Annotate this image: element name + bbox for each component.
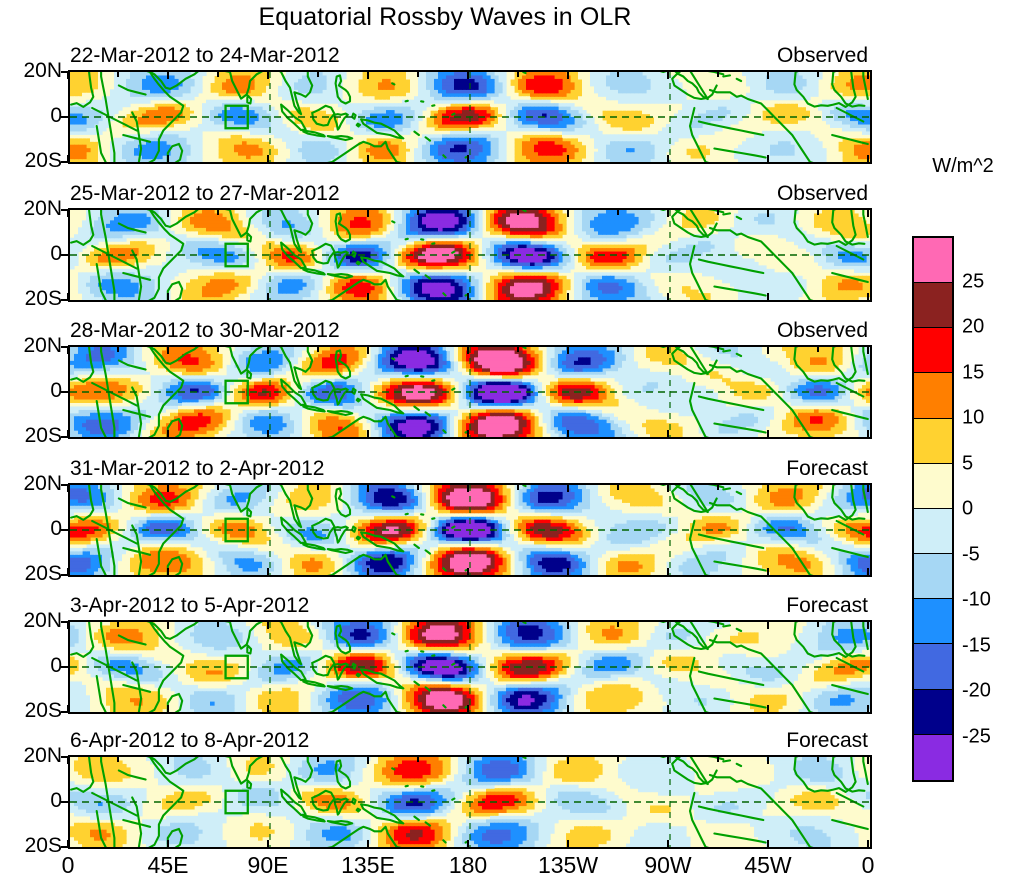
x-tick-mark	[867, 568, 869, 575]
x-tick-mark	[467, 485, 469, 492]
x-tick-mark	[67, 705, 69, 712]
x-tick-mark	[467, 155, 469, 162]
x-tick-mark	[167, 568, 169, 575]
x-tick-mark	[867, 430, 869, 437]
y-tick-mark	[61, 801, 69, 803]
x-tick-mark	[167, 347, 169, 354]
panel-title-3: 28-Mar-2012 to 30-Mar-2012	[70, 319, 340, 343]
x-minor-tick-mark	[817, 210, 819, 215]
x-minor-tick-mark	[717, 347, 719, 352]
x-tick-mark	[167, 757, 169, 764]
colorbar-band	[914, 690, 952, 735]
x-tick-mark	[467, 622, 469, 629]
x-tick-mark	[67, 155, 69, 162]
x-tick-mark	[267, 840, 269, 847]
x-tick-mark	[767, 210, 769, 217]
x-tick-label: 45W	[723, 852, 813, 879]
x-tick-mark	[367, 485, 369, 492]
x-minor-tick-mark	[617, 210, 619, 215]
x-tick-mark	[167, 485, 169, 492]
map-panel-4[interactable]	[68, 483, 872, 577]
x-tick-label: 135W	[523, 852, 613, 879]
x-tick-mark	[267, 705, 269, 712]
x-minor-tick-mark	[317, 72, 319, 77]
y-tick-label: 0	[0, 789, 62, 813]
x-tick-mark	[867, 155, 869, 162]
x-minor-tick-mark	[717, 757, 719, 762]
figure-title: Equatorial Rossby Waves in OLR	[0, 3, 890, 32]
x-tick-mark	[167, 155, 169, 162]
x-minor-tick-mark	[517, 210, 519, 215]
colorbar-tick-label: -15	[962, 634, 991, 657]
x-tick-mark	[867, 757, 869, 764]
x-tick-mark	[767, 757, 769, 764]
x-tick-label: 135E	[323, 852, 413, 879]
panel-title-1: 22-Mar-2012 to 24-Mar-2012	[70, 44, 340, 68]
panel-tag-1: Observed	[668, 44, 868, 68]
x-tick-mark	[767, 293, 769, 300]
y-tick-mark	[61, 529, 69, 531]
x-minor-tick-mark	[317, 485, 319, 490]
figure-canvas: Equatorial Rossby Waves in OLR 22-Mar-20…	[0, 0, 1021, 890]
x-tick-mark	[267, 347, 269, 354]
x-tick-mark	[667, 210, 669, 217]
colorbar-tick-label: 10	[962, 407, 984, 430]
colorbar-band	[914, 373, 952, 418]
x-tick-mark	[867, 293, 869, 300]
colorbar-tick-label: -10	[962, 589, 991, 612]
x-minor-tick-mark	[417, 485, 419, 490]
x-minor-tick-mark	[617, 72, 619, 77]
x-tick-mark	[567, 293, 569, 300]
x-minor-tick-mark	[217, 210, 219, 215]
x-minor-tick-mark	[817, 485, 819, 490]
x-minor-tick-mark	[217, 72, 219, 77]
x-minor-tick-mark	[317, 210, 319, 215]
x-tick-mark	[767, 705, 769, 712]
x-minor-tick-mark	[217, 347, 219, 352]
x-tick-label: 0	[23, 852, 113, 879]
x-tick-mark	[767, 622, 769, 629]
x-tick-mark	[467, 210, 469, 217]
x-minor-tick-mark	[817, 622, 819, 627]
x-tick-mark	[867, 622, 869, 629]
y-tick-mark	[61, 116, 69, 118]
y-tick-label: 20S	[0, 424, 62, 448]
x-tick-mark	[567, 155, 569, 162]
x-tick-mark	[467, 568, 469, 575]
x-tick-mark	[767, 840, 769, 847]
x-tick-mark	[567, 485, 569, 492]
y-tick-label: 20N	[0, 197, 62, 221]
x-tick-mark	[67, 72, 69, 79]
x-tick-mark	[667, 72, 669, 79]
x-minor-tick-mark	[417, 757, 419, 762]
x-minor-tick-mark	[217, 622, 219, 627]
x-tick-mark	[67, 622, 69, 629]
x-tick-mark	[567, 840, 569, 847]
x-tick-mark	[667, 347, 669, 354]
colorbar-tick-label: 20	[962, 316, 984, 339]
y-tick-label: 20N	[0, 609, 62, 633]
x-tick-mark	[467, 757, 469, 764]
y-tick-label: 0	[0, 242, 62, 266]
colorbar-band	[914, 599, 952, 644]
map-panel-6[interactable]	[68, 755, 872, 849]
x-tick-mark	[167, 72, 169, 79]
x-tick-mark	[67, 347, 69, 354]
x-tick-mark	[667, 840, 669, 847]
x-minor-tick-mark	[617, 622, 619, 627]
x-minor-tick-mark	[717, 485, 719, 490]
x-minor-tick-mark	[217, 757, 219, 762]
x-tick-mark	[667, 757, 669, 764]
x-tick-mark	[867, 72, 869, 79]
x-tick-mark	[367, 757, 369, 764]
y-tick-label: 0	[0, 379, 62, 403]
x-tick-mark	[67, 210, 69, 217]
y-tick-label: 20S	[0, 562, 62, 586]
x-tick-label: 0	[823, 852, 913, 879]
x-minor-tick-mark	[517, 72, 519, 77]
x-tick-mark	[467, 705, 469, 712]
x-minor-tick-mark	[317, 347, 319, 352]
x-tick-label: 45E	[123, 852, 213, 879]
y-tick-mark	[61, 666, 69, 668]
colorbar-tick-label: 0	[962, 498, 973, 521]
colorbar-tick-label: 5	[962, 452, 973, 475]
x-tick-mark	[367, 293, 369, 300]
x-tick-mark	[167, 210, 169, 217]
x-tick-mark	[367, 430, 369, 437]
y-tick-label: 20N	[0, 334, 62, 358]
map-panel-2[interactable]	[68, 208, 872, 302]
x-minor-tick-mark	[717, 622, 719, 627]
x-minor-tick-mark	[417, 72, 419, 77]
x-tick-mark	[267, 210, 269, 217]
x-tick-label: 90E	[223, 852, 313, 879]
x-tick-mark	[567, 705, 569, 712]
x-minor-tick-mark	[417, 210, 419, 215]
colorbar-tick-label: 15	[962, 361, 984, 384]
x-tick-mark	[67, 757, 69, 764]
x-minor-tick-mark	[517, 347, 519, 352]
map-panel-1[interactable]	[68, 70, 872, 164]
panel-title-2: 25-Mar-2012 to 27-Mar-2012	[70, 182, 340, 206]
x-tick-mark	[667, 705, 669, 712]
x-tick-mark	[167, 293, 169, 300]
x-minor-tick-mark	[117, 72, 119, 77]
panel-tag-2: Observed	[668, 182, 868, 206]
x-tick-mark	[767, 72, 769, 79]
panel-tag-3: Observed	[668, 319, 868, 343]
colorbar-band	[914, 644, 952, 689]
x-tick-mark	[267, 757, 269, 764]
x-minor-tick-mark	[417, 622, 419, 627]
x-tick-mark	[867, 705, 869, 712]
x-tick-mark	[467, 72, 469, 79]
panel-tag-5: Forecast	[668, 594, 868, 618]
x-tick-mark	[367, 72, 369, 79]
map-panel-3[interactable]	[68, 345, 872, 439]
x-tick-mark	[167, 622, 169, 629]
panel-title-4: 31-Mar-2012 to 2-Apr-2012	[70, 457, 324, 481]
y-tick-label: 0	[0, 104, 62, 128]
x-tick-mark	[267, 485, 269, 492]
x-tick-mark	[767, 568, 769, 575]
colorbar-tick-label: -5	[962, 543, 980, 566]
x-tick-mark	[67, 430, 69, 437]
colorbar	[912, 236, 954, 782]
x-minor-tick-mark	[317, 622, 319, 627]
x-tick-mark	[367, 155, 369, 162]
x-tick-mark	[667, 568, 669, 575]
x-tick-mark	[867, 840, 869, 847]
x-tick-mark	[367, 347, 369, 354]
x-tick-mark	[67, 485, 69, 492]
x-tick-mark	[567, 622, 569, 629]
x-minor-tick-mark	[617, 485, 619, 490]
x-tick-mark	[667, 293, 669, 300]
colorbar-band	[914, 238, 952, 283]
x-tick-mark	[167, 840, 169, 847]
y-tick-mark	[61, 254, 69, 256]
x-tick-mark	[567, 568, 569, 575]
colorbar-band	[914, 735, 952, 780]
x-minor-tick-mark	[417, 347, 419, 352]
x-minor-tick-mark	[817, 347, 819, 352]
x-minor-tick-mark	[117, 485, 119, 490]
y-tick-label: 0	[0, 654, 62, 678]
colorbar-tick-label: 25	[962, 270, 984, 293]
colorbar-band	[914, 419, 952, 464]
x-minor-tick-mark	[117, 347, 119, 352]
panel-tag-6: Forecast	[668, 729, 868, 753]
x-minor-tick-mark	[217, 485, 219, 490]
x-tick-mark	[667, 430, 669, 437]
x-minor-tick-mark	[717, 210, 719, 215]
panel-title-6: 6-Apr-2012 to 8-Apr-2012	[70, 729, 309, 753]
x-tick-mark	[667, 485, 669, 492]
x-minor-tick-mark	[817, 757, 819, 762]
map-panel-5[interactable]	[68, 620, 872, 714]
y-tick-label: 20N	[0, 59, 62, 83]
y-tick-mark	[61, 391, 69, 393]
x-tick-mark	[567, 430, 569, 437]
x-tick-mark	[67, 568, 69, 575]
colorbar-band	[914, 509, 952, 554]
x-tick-mark	[167, 430, 169, 437]
panel-tag-4: Forecast	[668, 457, 868, 481]
x-tick-mark	[367, 568, 369, 575]
x-tick-mark	[667, 155, 669, 162]
x-tick-mark	[67, 840, 69, 847]
y-tick-label: 0	[0, 517, 62, 541]
colorbar-band	[914, 554, 952, 599]
x-tick-mark	[467, 840, 469, 847]
x-tick-mark	[567, 757, 569, 764]
x-tick-mark	[467, 347, 469, 354]
x-tick-mark	[767, 485, 769, 492]
y-tick-label: 20N	[0, 744, 62, 768]
x-tick-mark	[367, 705, 369, 712]
x-minor-tick-mark	[517, 757, 519, 762]
colorbar-band	[914, 283, 952, 328]
x-tick-mark	[367, 210, 369, 217]
x-tick-mark	[767, 347, 769, 354]
x-minor-tick-mark	[617, 347, 619, 352]
x-minor-tick-mark	[517, 485, 519, 490]
x-tick-label: 90W	[623, 852, 713, 879]
x-minor-tick-mark	[517, 622, 519, 627]
x-tick-mark	[467, 293, 469, 300]
x-tick-mark	[767, 430, 769, 437]
x-tick-label: 180	[423, 852, 513, 879]
x-tick-mark	[667, 622, 669, 629]
x-tick-mark	[267, 293, 269, 300]
x-minor-tick-mark	[117, 210, 119, 215]
x-tick-mark	[267, 72, 269, 79]
colorbar-band	[914, 464, 952, 509]
x-tick-mark	[267, 622, 269, 629]
y-tick-label: 20S	[0, 699, 62, 723]
x-minor-tick-mark	[117, 757, 119, 762]
x-tick-mark	[467, 430, 469, 437]
x-tick-mark	[567, 72, 569, 79]
colorbar-band	[914, 328, 952, 373]
x-tick-mark	[567, 347, 569, 354]
x-tick-mark	[367, 622, 369, 629]
x-minor-tick-mark	[317, 757, 319, 762]
x-tick-mark	[167, 705, 169, 712]
colorbar-tick-label: -25	[962, 725, 991, 748]
panel-title-5: 3-Apr-2012 to 5-Apr-2012	[70, 594, 309, 618]
x-tick-mark	[267, 155, 269, 162]
x-tick-mark	[367, 840, 369, 847]
colorbar-tick-label: -20	[962, 680, 991, 703]
x-tick-mark	[267, 568, 269, 575]
x-tick-mark	[867, 210, 869, 217]
y-tick-label: 20N	[0, 472, 62, 496]
x-tick-mark	[767, 155, 769, 162]
y-tick-label: 20S	[0, 287, 62, 311]
x-minor-tick-mark	[617, 757, 619, 762]
x-minor-tick-mark	[717, 72, 719, 77]
x-tick-mark	[567, 210, 569, 217]
x-tick-mark	[267, 430, 269, 437]
x-tick-mark	[867, 347, 869, 354]
x-minor-tick-mark	[817, 72, 819, 77]
x-minor-tick-mark	[117, 622, 119, 627]
x-tick-mark	[67, 293, 69, 300]
x-tick-mark	[867, 485, 869, 492]
y-tick-label: 20S	[0, 149, 62, 173]
colorbar-title: W/m^2	[905, 155, 1021, 178]
